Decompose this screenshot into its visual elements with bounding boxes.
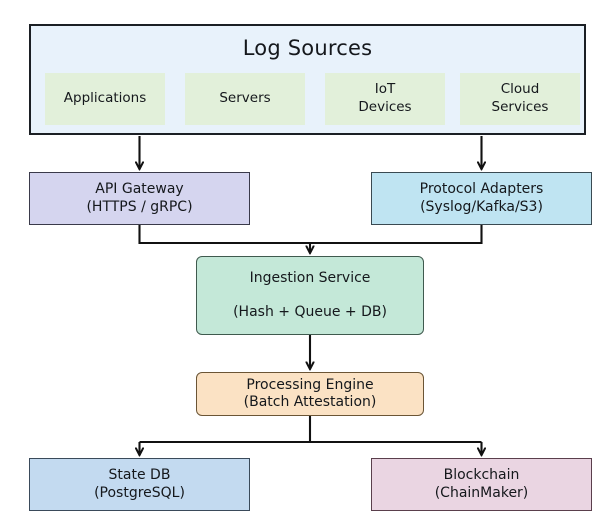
node-subtitle: (PostgreSQL) [94, 485, 185, 503]
source-label: Servers [219, 90, 270, 108]
source-item-applications[interactable]: Applications [45, 73, 165, 125]
source-label: Applications [64, 90, 146, 108]
source-label: IoT Devices [358, 81, 411, 116]
node-subtitle: (Batch Attestation) [244, 394, 377, 412]
node-title: Ingestion Service [250, 270, 371, 288]
node-subtitle: (HTTPS / gRPC) [86, 199, 192, 217]
architecture-diagram: Log Sources Applications Servers IoT Dev… [0, 0, 614, 531]
node-ingestion-service[interactable]: Ingestion Service (Hash + Queue + DB) [196, 256, 424, 335]
edge-api-gateway-to-merge [140, 225, 311, 243]
node-title: State DB [109, 467, 171, 485]
node-api-gateway[interactable]: API Gateway (HTTPS / gRPC) [29, 172, 250, 225]
node-blockchain[interactable]: Blockchain (ChainMaker) [371, 458, 592, 511]
node-subtitle: (Syslog/Kafka/S3) [420, 199, 543, 217]
node-subtitle: (ChainMaker) [435, 485, 529, 503]
source-item-servers[interactable]: Servers [185, 73, 305, 125]
source-label: Cloud Services [492, 81, 549, 116]
edge-protocol-adapters-to-merge [310, 225, 482, 243]
node-title: Processing Engine [246, 377, 373, 395]
node-state-db[interactable]: State DB (PostgreSQL) [29, 458, 250, 511]
source-item-iot-devices[interactable]: IoT Devices [325, 73, 445, 125]
node-processing-engine[interactable]: Processing Engine (Batch Attestation) [196, 372, 424, 416]
node-title: API Gateway [95, 181, 183, 199]
node-title: Protocol Adapters [420, 181, 544, 199]
log-sources-title: Log Sources [243, 35, 372, 61]
source-item-cloud-services[interactable]: Cloud Services [460, 73, 580, 125]
log-sources-container: Log Sources Applications Servers IoT Dev… [29, 24, 586, 135]
log-sources-list: Applications Servers IoT Devices Cloud S… [31, 73, 588, 125]
node-subtitle: (Hash + Queue + DB) [233, 304, 387, 322]
node-protocol-adapters[interactable]: Protocol Adapters (Syslog/Kafka/S3) [371, 172, 592, 225]
node-title: Blockchain [444, 467, 520, 485]
